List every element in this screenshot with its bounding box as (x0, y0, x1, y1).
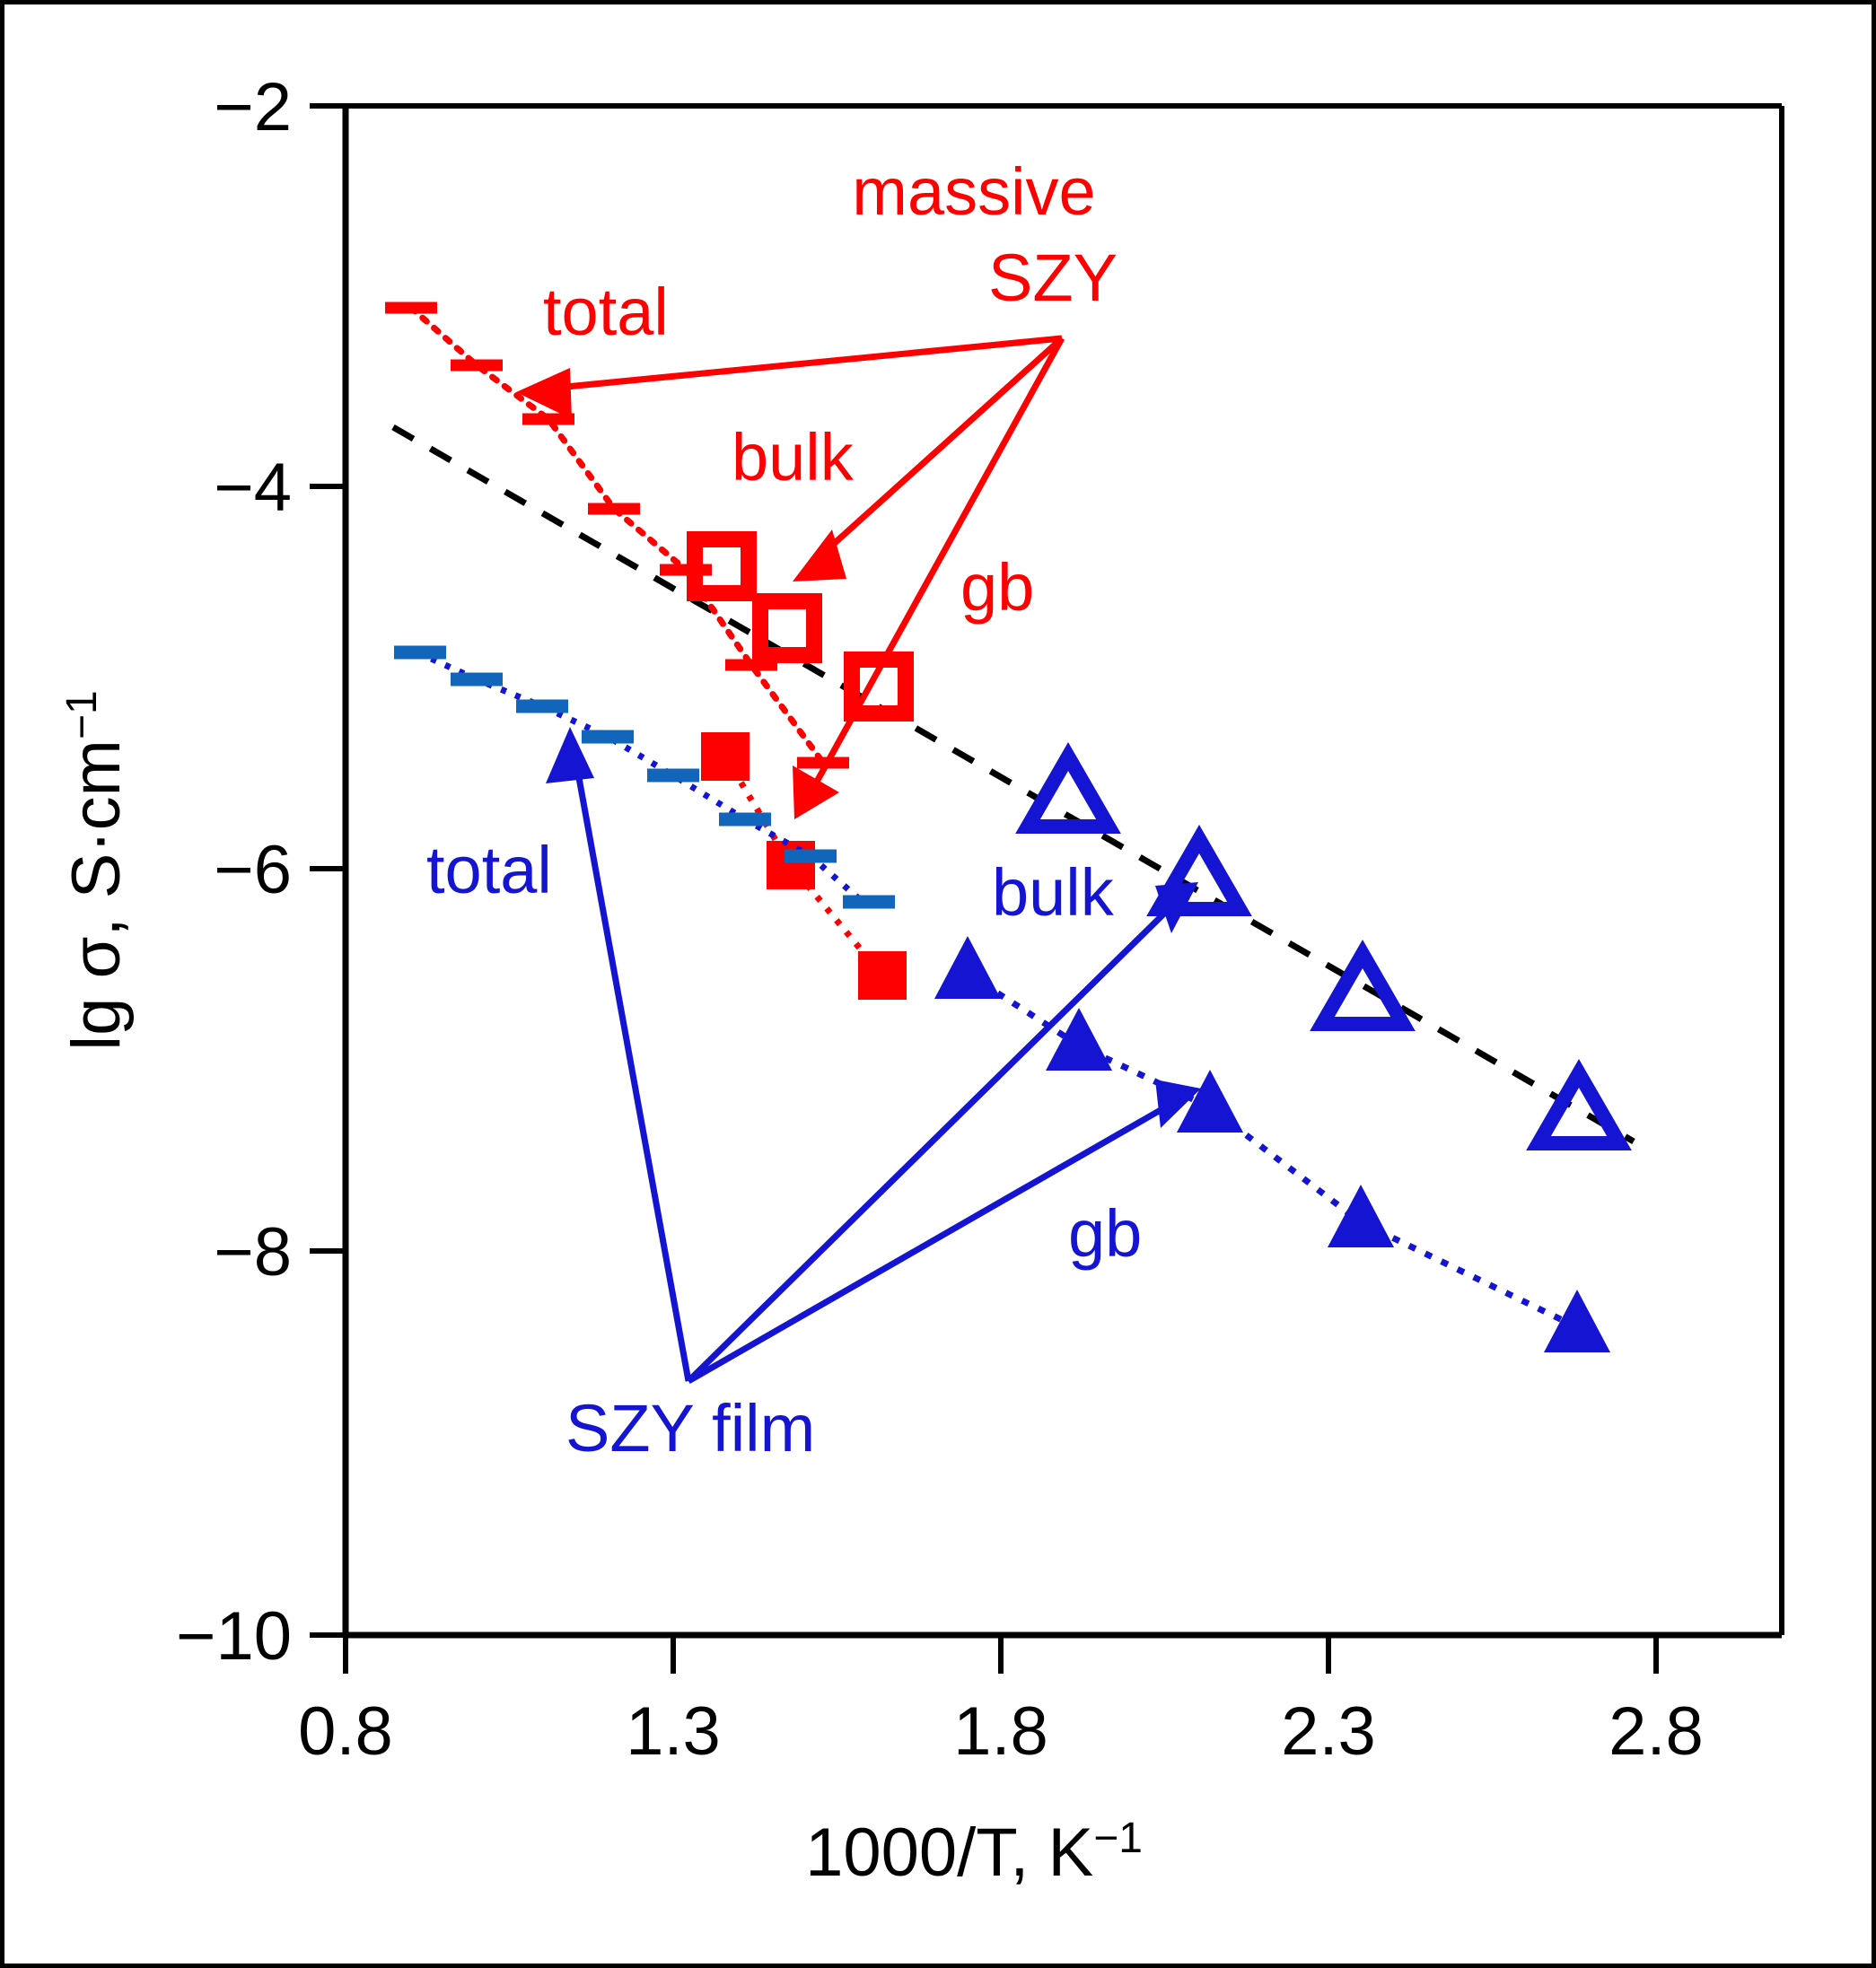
y-tick-label: −8 (214, 1214, 292, 1290)
x-tick-labels: 0.8 1.3 1.8 2.3 2.8 (298, 1693, 1704, 1770)
y-axis-title-sup: −1 (58, 690, 106, 739)
arrowhead-icon (793, 765, 839, 819)
data-point-open-square (695, 539, 749, 593)
annotation-red-total: total (543, 275, 669, 349)
data-point-filled-triangle (1544, 1290, 1610, 1352)
annotation-red-gb: gb (960, 550, 1034, 625)
y-tick-label: −6 (214, 832, 292, 908)
data-point-filled-square (858, 951, 907, 1000)
series-szy-film-gb (934, 936, 1610, 1352)
y-tick-label: −4 (214, 450, 292, 526)
x-tick-label: 1.8 (953, 1693, 1048, 1770)
annotation-szy: SZY (988, 241, 1118, 315)
annotation-blue-total: total (426, 833, 552, 907)
annotation-blue-gb: gb (1068, 1196, 1142, 1271)
data-point-filled-square (701, 732, 750, 781)
x-tick-label: 2.3 (1281, 1693, 1376, 1770)
x-tick-label: 2.8 (1609, 1693, 1704, 1770)
data-point-filled-square (767, 841, 815, 889)
data-point-filled-triangle (1328, 1185, 1394, 1247)
conductivity-arrhenius-chart: −2 −4 −6 −8 −10 0.8 1.3 1.8 2.3 2.8 1000… (4, 4, 1876, 1968)
x-tick-label: 1.3 (626, 1693, 721, 1770)
series-massive-szy-bulk (695, 539, 906, 713)
y-tick-label: −10 (176, 1598, 292, 1675)
data-point-open-square (760, 601, 814, 655)
svg-text:lg σ, S·cm−1: lg σ, S·cm−1 (58, 690, 135, 1050)
annotation-blue-bulk: bulk (992, 855, 1115, 930)
y-tick-labels: −2 −4 −6 −8 −10 (176, 69, 292, 1675)
annotation-szy-film: SZY film (565, 1391, 815, 1465)
y-axis-title-text: lg σ, S·cm (58, 739, 135, 1051)
y-axis-ticks (310, 106, 346, 1635)
arrowhead-icon (516, 368, 572, 419)
figure-page: −2 −4 −6 −8 −10 0.8 1.3 1.8 2.3 2.8 1000… (0, 0, 1876, 1968)
data-point-open-triangle (1538, 1073, 1619, 1143)
x-axis-title-text: 1000/T, K (805, 1815, 1093, 1891)
x-tick-label: 0.8 (298, 1693, 393, 1770)
annotation-massive: massive (852, 154, 1095, 229)
data-point-filled-triangle (934, 936, 1001, 999)
x-axis-title: 1000/T, K−1 (805, 1815, 1143, 1891)
series-massive-szy-total (385, 308, 849, 763)
annotation-red-bulk: bulk (732, 420, 855, 494)
total-dash-markers (385, 308, 849, 763)
svg-text:1000/T, K−1: 1000/T, K−1 (805, 1815, 1143, 1891)
y-axis-title: lg σ, S·cm−1 (58, 690, 135, 1050)
x-axis-ticks (346, 1635, 1656, 1674)
y-tick-label: −2 (214, 69, 292, 145)
x-axis-title-sup: −1 (1093, 1815, 1143, 1862)
